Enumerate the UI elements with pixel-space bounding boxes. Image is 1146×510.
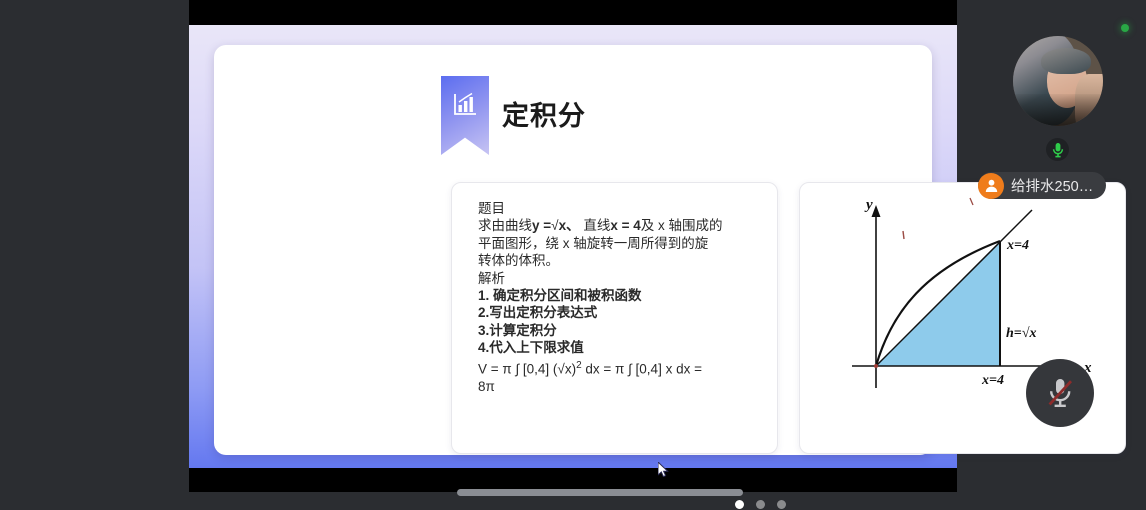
pagination-dot-1[interactable]: [735, 500, 744, 509]
slide-pagination[interactable]: [735, 500, 791, 509]
problem-heading: 题目: [478, 200, 750, 217]
microphone-mute-button[interactable]: [1026, 359, 1094, 427]
solution-step: 4.代入上下限求值: [478, 339, 750, 356]
pagination-dot-3[interactable]: [777, 500, 786, 509]
label-height: h=√x: [1006, 326, 1036, 341]
mouse-cursor: [658, 462, 669, 477]
pagination-dot-2[interactable]: [756, 500, 765, 509]
problem-line-1: 求由曲线y =√x、 直线x = 4及 x 轴围成的: [478, 217, 750, 234]
solution-heading: 解析: [478, 270, 750, 287]
y-axis-label: y: [864, 197, 873, 213]
status-indicator-dot: [1121, 24, 1129, 32]
stray-mark: [970, 198, 973, 205]
avatar[interactable]: [1013, 36, 1103, 126]
solution-formula: V = π ∫ [0,4] (√x)2 dx = π ∫ [0,4] x dx …: [478, 357, 750, 378]
origin-point: [874, 364, 878, 368]
problem-line-3: 转体的体积。: [478, 252, 750, 269]
y-axis-arrow: [872, 205, 881, 217]
page-title: 定积分: [502, 103, 586, 130]
person-icon: [978, 173, 1004, 199]
label-x4-bottom: x=4: [981, 373, 1004, 388]
presentation-slide: 定积分 题目 求由曲线y =√x、 直线x = 4及 x 轴围成的 平面图形，绕…: [189, 25, 957, 468]
avatar-fringe: [1041, 48, 1091, 74]
microphone-muted-icon: [1045, 376, 1075, 410]
solution-step: 2.写出定积分表达式: [478, 304, 750, 321]
solution-step: 1. 确定积分区间和被积函数: [478, 287, 750, 304]
problem-panel: 题目 求由曲线y =√x、 直线x = 4及 x 轴围成的 平面图形，绕 x 轴…: [451, 182, 778, 454]
meeting-screen-share-window: 定积分 题目 求由曲线y =√x、 直线x = 4及 x 轴围成的 平面图形，绕…: [0, 0, 1146, 510]
problem-text: 题目 求由曲线y =√x、 直线x = 4及 x 轴围成的 平面图形，绕 x 轴…: [478, 200, 750, 395]
horizontal-scrollbar[interactable]: [457, 489, 743, 496]
avatar-shadow: [1013, 94, 1103, 126]
problem-line-2: 平面图形，绕 x 轴旋转一周所得到的旋: [478, 235, 750, 252]
solution-step: 3.计算定积分: [478, 322, 750, 339]
slide-card: 定积分 题目 求由曲线y =√x、 直线x = 4及 x 轴围成的 平面图形，绕…: [214, 45, 932, 455]
screen-share-stage: 定积分 题目 求由曲线y =√x、 直线x = 4及 x 轴围成的 平面图形，绕…: [189, 0, 957, 492]
bar-chart-icon: [441, 76, 489, 155]
label-x4-top: x=4: [1006, 238, 1029, 253]
participant-name-tag: 给排水250…: [978, 172, 1106, 199]
participant-name: 给排水250…: [1011, 175, 1093, 196]
solution-formula-result: 8π: [478, 378, 750, 395]
microphone-icon: [1046, 138, 1069, 161]
stray-mark: [903, 231, 904, 239]
